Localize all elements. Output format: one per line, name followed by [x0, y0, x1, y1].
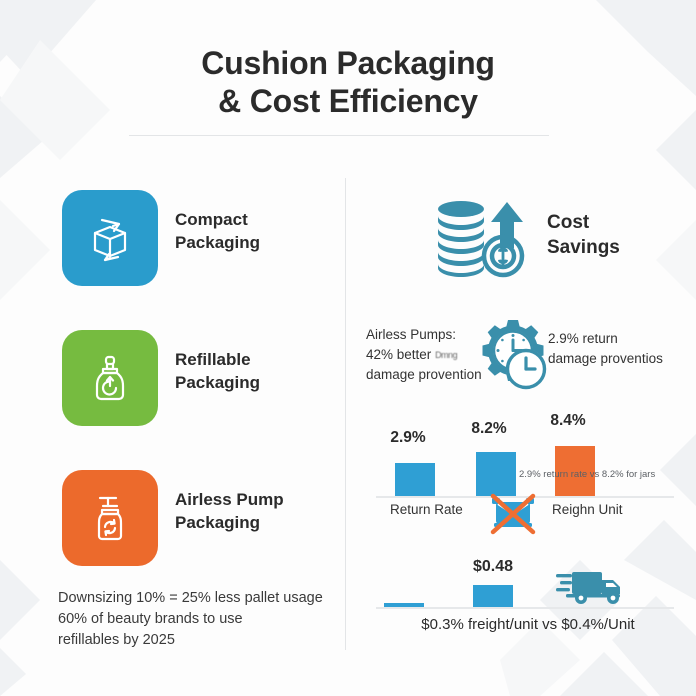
feature-label-line-1: Refillable [175, 348, 340, 371]
chart-baseline [376, 607, 674, 609]
footnote-line-3: refillables by 2025 [58, 630, 348, 651]
feature-label-line-2: Packaging [175, 371, 340, 394]
feature-label: Airless Pump Packaging [175, 488, 340, 534]
pumps-line-2: 42% better Dmng [366, 345, 486, 365]
feature-label: Compact Packaging [175, 208, 340, 254]
cost-savings-line-1: Cost [547, 210, 620, 235]
feature-label-line-1: Compact [175, 208, 340, 231]
chart-category-label: Return Rate [390, 502, 463, 517]
bar-value-label: 8.4% [540, 412, 596, 430]
feature-tile-blue [62, 190, 158, 286]
features-column: Compact Packaging Refi [55, 180, 340, 600]
coins-stack-up-arrow-dollar-icon [435, 196, 535, 280]
title-line-1: Cushion Packaging [0, 44, 696, 82]
chart-annotation: 2.9% return rate vs 8.2% for jars [519, 469, 679, 480]
title-divider [129, 135, 549, 136]
cost-savings-label: Cost Savings [547, 210, 620, 260]
airless-pumps-left-text: Airless Pumps: 42% better Dmng damage pr… [366, 325, 486, 385]
gear-clock-icon [474, 317, 550, 393]
pumps-line-1: Airless Pumps: [366, 325, 486, 345]
left-footnote: Downsizing 10% = 25% less pallet usage 6… [58, 588, 348, 651]
cost-savings-header: Cost Savings [435, 196, 675, 280]
airless-pumps-block: Airless Pumps: 42% better Dmng damage pr… [366, 325, 676, 397]
bar-value-label: $0.48 [458, 558, 528, 576]
garbled-glyphs: Dmng [435, 350, 457, 360]
feature-label-line-1: Airless Pump [175, 488, 340, 511]
feature-tile-orange [62, 470, 158, 566]
bar-value-label: 8.2% [461, 420, 517, 438]
column-divider [345, 178, 346, 650]
feature-label-line-2: Packaging [175, 511, 340, 534]
bar-value-label: 2.9% [380, 429, 436, 447]
pump-bottle-recycle-icon [82, 490, 138, 546]
airless-pumps-right-text: 2.9% return damage proventios [548, 329, 676, 369]
feature-refillable-packaging[interactable]: Refillable Packaging [55, 320, 340, 460]
feature-compact-packaging[interactable]: Compact Packaging [55, 180, 340, 320]
bar-freight-low [384, 603, 424, 607]
feature-label-line-2: Packaging [175, 231, 340, 254]
title-line-2: & Cost Efficiency [0, 82, 696, 120]
return-rate-chart: 2.9% 8.2% 8.4% 2.9% return rate vs 8.2% … [376, 424, 676, 529]
freight-caption: $0.3% freight/unit vs $0.4%/Unit [380, 616, 676, 633]
delivery-truck-icon [556, 566, 628, 606]
bar-return-rate-cushion [395, 463, 435, 496]
footnote-line-2: 60% of beauty brands to use [58, 609, 348, 630]
chart-category-label: Reighn Unit [552, 502, 623, 517]
footnote-line-1: Downsizing 10% = 25% less pallet usage [58, 588, 348, 609]
crossed-out-box-icon [484, 492, 542, 536]
feature-label: Refillable Packaging [175, 348, 340, 394]
bar-freight-high [473, 585, 513, 607]
bar-return-rate-jars [476, 452, 516, 496]
box-arrows-icon [82, 210, 138, 266]
feature-tile-green [62, 330, 158, 426]
feature-airless-pump-packaging[interactable]: Airless Pump Packaging [55, 460, 340, 600]
page-title: Cushion Packaging & Cost Efficiency [0, 44, 696, 120]
pumps-line-3: damage provention [366, 365, 486, 385]
return-line-1: 2.9% return [548, 329, 676, 349]
refill-bottle-icon [82, 350, 138, 406]
freight-cost-chart: $0.48 $0.3% freight/unit vs $0.4%/Unit [376, 560, 676, 652]
cost-savings-line-2: Savings [547, 235, 620, 260]
return-line-2: damage proventios [548, 349, 676, 369]
